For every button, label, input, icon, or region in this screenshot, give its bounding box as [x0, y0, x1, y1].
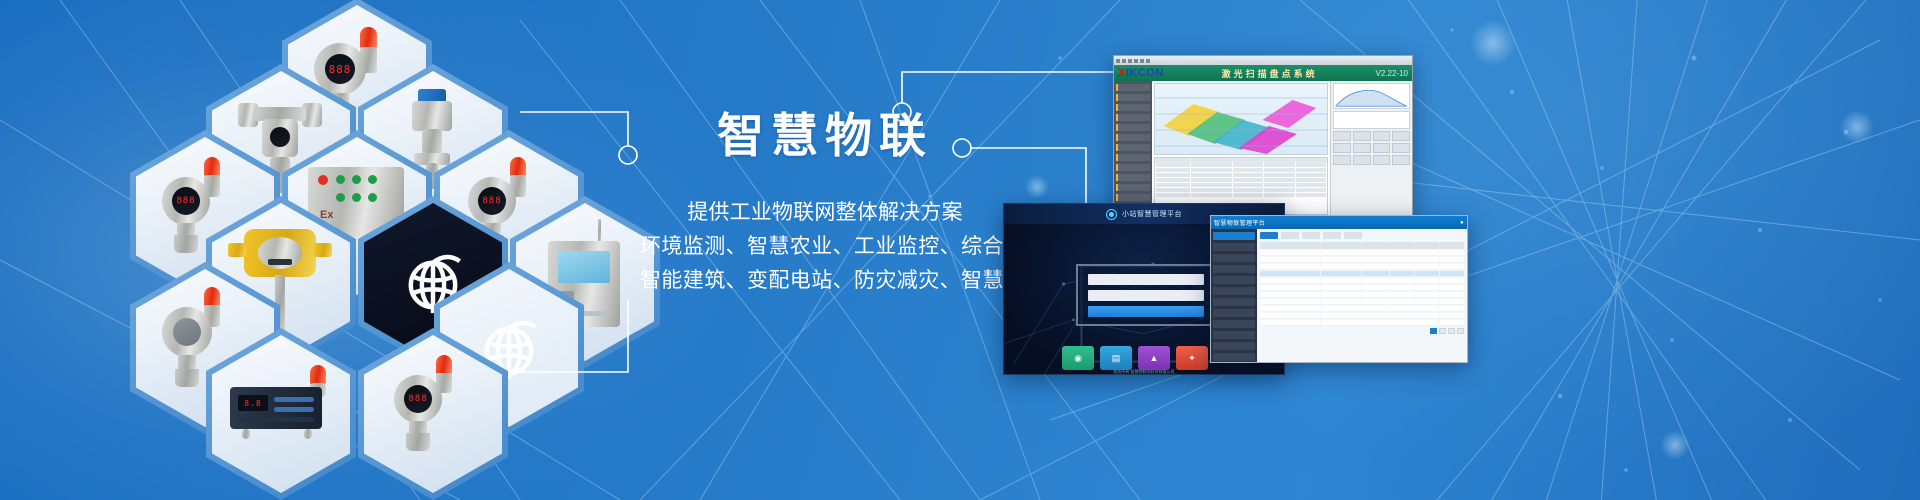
- table-row[interactable]: [1260, 292, 1464, 298]
- table-header-row: [1260, 242, 1464, 249]
- laser-scan-canvas[interactable]: [1154, 83, 1328, 155]
- data-table-screenshot[interactable]: 智慧物联管理平台 ●: [1210, 215, 1468, 363]
- glow-dot-5: [1660, 430, 1690, 460]
- laser-chart-panel: [1333, 83, 1410, 109]
- table-row[interactable]: [1260, 257, 1464, 263]
- laser-sidebar[interactable]: [1114, 81, 1152, 221]
- dashboard-footer: 版权所有 智慧物联网科技有限公司: [1004, 369, 1284, 375]
- table-user-badge[interactable]: ●: [1460, 220, 1464, 226]
- tile-video-surveillance[interactable]: ▤: [1100, 346, 1132, 370]
- subtitle-line-2: 环境监测、智慧农业、工业监控、综合管廊、: [640, 230, 1010, 264]
- laser-header: XIKCON 激光扫描盘点系统 V2.22-10: [1114, 65, 1412, 81]
- table-sidebar[interactable]: [1211, 229, 1257, 363]
- table-row[interactable]: [1260, 306, 1464, 312]
- logo-prefix: X: [1118, 67, 1126, 79]
- table-row[interactable]: [1260, 264, 1464, 270]
- tile-alarm-management[interactable]: ▲: [1138, 346, 1170, 370]
- table-logo: 智慧物联管理平台: [1214, 218, 1265, 227]
- laser-button-grid[interactable]: [1333, 131, 1410, 165]
- laser-info-panel: [1333, 111, 1410, 129]
- login-button[interactable]: [1088, 306, 1204, 317]
- gas-detector-with-alarm-lamp-icon: 888: [374, 351, 492, 477]
- username-field[interactable]: [1088, 274, 1204, 285]
- laser-main-panel: [1152, 81, 1330, 221]
- headline-block: 智慧物联 提供工业物联网整体解决方案 环境监测、智慧农业、工业监控、综合管廊、 …: [640, 110, 1010, 298]
- table-row-selected[interactable]: [1260, 271, 1464, 277]
- table-body: [1211, 229, 1467, 363]
- subtitle-group: 提供工业物联网整体解决方案 环境监测、智慧农业、工业监控、综合管廊、 智能建筑、…: [640, 196, 1010, 298]
- table-row[interactable]: [1260, 320, 1464, 326]
- glow-dot-1: [1470, 20, 1516, 66]
- laser-header-title: 激光扫描盘点系统: [1222, 67, 1318, 80]
- table-row[interactable]: [1260, 299, 1464, 305]
- laser-titlebar: [1114, 56, 1412, 65]
- laser-version: V2.22-10: [1376, 69, 1408, 78]
- subtitle-line-1: 提供工业物联网整体解决方案: [640, 196, 1010, 230]
- table-pagination[interactable]: [1260, 328, 1464, 334]
- laser-scanning-software-screenshot[interactable]: XIKCON 激光扫描盘点系统 V2.22-10: [1113, 55, 1413, 220]
- dashboard-title: 小站智慧管理平台: [1122, 209, 1182, 219]
- table-row[interactable]: [1260, 278, 1464, 284]
- table-row[interactable]: [1260, 250, 1464, 256]
- table-titlebar: 智慧物联管理平台 ●: [1211, 216, 1467, 229]
- ikcon-logo: XIKCON: [1118, 67, 1164, 79]
- subtitle-line-3: 智能建筑、变配电站、防灾减灾、智慧交通: [640, 264, 1010, 298]
- laser-right-panel[interactable]: [1330, 81, 1412, 221]
- page-title: 智慧物联: [640, 110, 1010, 162]
- alarm-control-unit-icon: 8.8: [222, 351, 340, 477]
- dashboard-tiles[interactable]: ◉ ▤ ▲ ✦: [1062, 346, 1208, 370]
- glow-dot-2: [1840, 110, 1874, 144]
- tile-environment-monitor[interactable]: ◉: [1062, 346, 1094, 370]
- table-row[interactable]: [1260, 285, 1464, 291]
- table-toolbar[interactable]: [1260, 232, 1464, 239]
- tile-device-management[interactable]: ✦: [1176, 346, 1208, 370]
- shield-icon: [1106, 209, 1117, 220]
- product-hexagon-cluster: 888: [60, 0, 680, 500]
- table-main-panel: [1257, 229, 1467, 363]
- table-row[interactable]: [1260, 313, 1464, 319]
- iot-solution-banner: 888: [0, 0, 1920, 500]
- laser-body: [1114, 81, 1412, 221]
- password-field[interactable]: [1088, 290, 1204, 301]
- glow-dot-4: [1025, 175, 1049, 199]
- login-card[interactable]: [1076, 264, 1216, 326]
- logo-text: IKCON: [1126, 67, 1164, 79]
